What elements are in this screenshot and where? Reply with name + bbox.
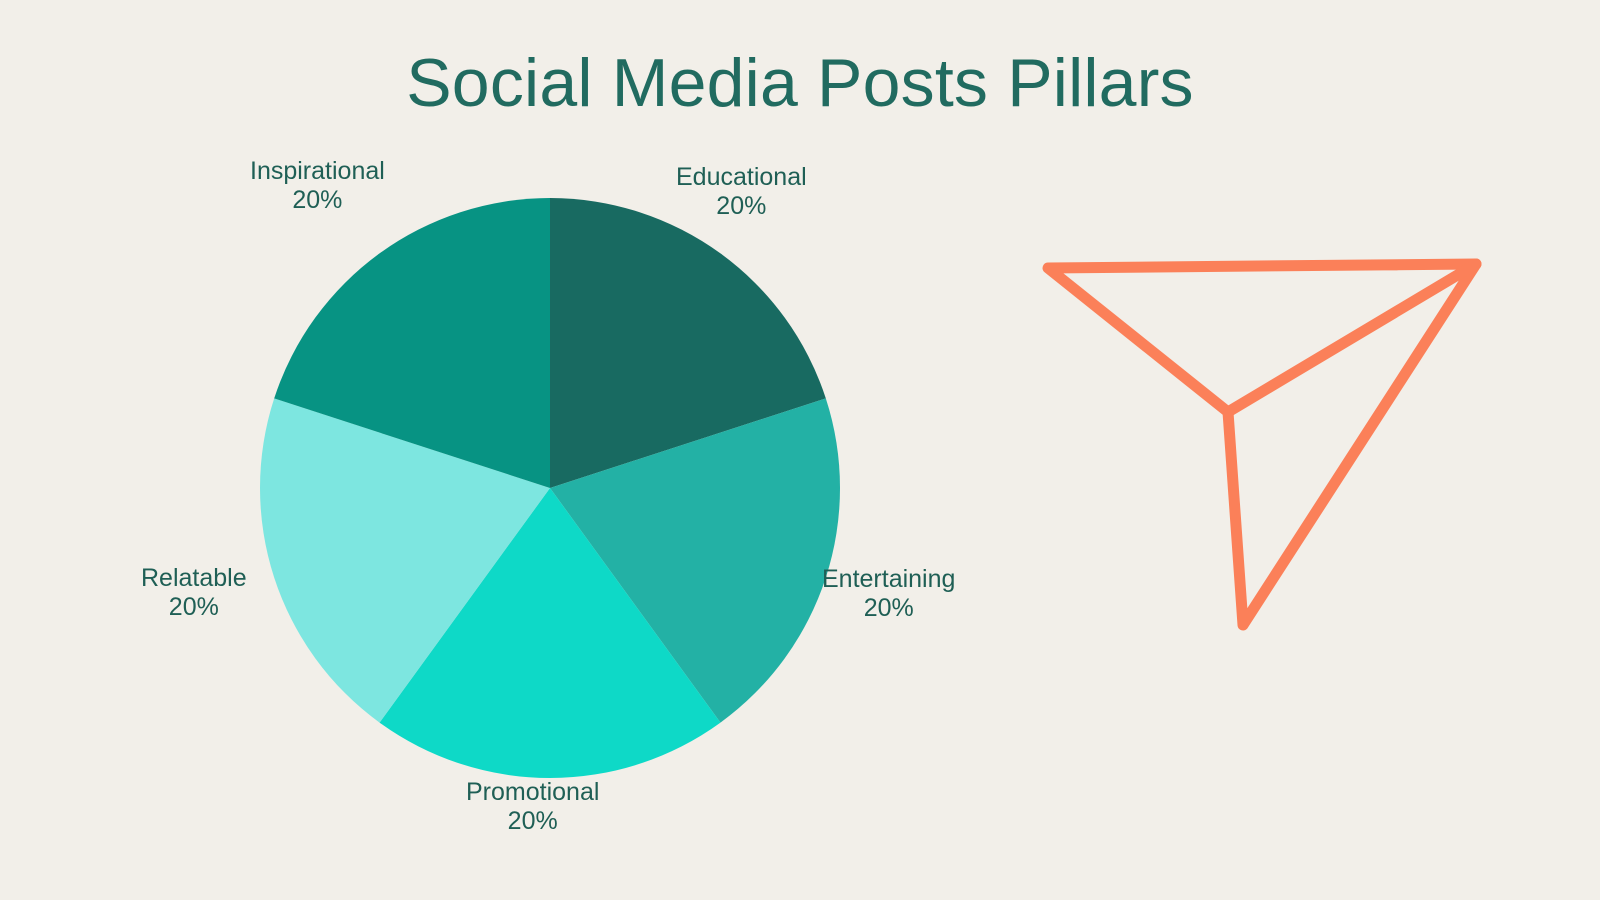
pie-label-percent: 20% xyxy=(466,807,599,836)
pie-label-name: Inspirational xyxy=(250,157,385,186)
paper-plane-fold-path xyxy=(1228,264,1476,412)
pie-label-percent: 20% xyxy=(676,192,807,221)
paper-plane-outline-path xyxy=(1048,264,1476,625)
pie-label-entertaining: Entertaining20% xyxy=(822,565,955,623)
pie-label-percent: 20% xyxy=(141,593,247,622)
pie-label-percent: 20% xyxy=(822,594,955,623)
pie-label-educational: Educational20% xyxy=(676,163,807,221)
pie-label-percent: 20% xyxy=(250,186,385,215)
paper-plane-send-icon xyxy=(0,0,1600,900)
pie-label-relatable: Relatable20% xyxy=(141,564,247,622)
pie-label-inspirational: Inspirational20% xyxy=(250,157,385,215)
pie-label-promotional: Promotional20% xyxy=(466,778,599,836)
pie-label-name: Educational xyxy=(676,163,807,192)
pie-label-name: Relatable xyxy=(141,564,247,593)
slide-canvas: Social Media Posts Pillars Educational20… xyxy=(0,0,1600,900)
pie-label-name: Promotional xyxy=(466,778,599,807)
pie-label-name: Entertaining xyxy=(822,565,955,594)
